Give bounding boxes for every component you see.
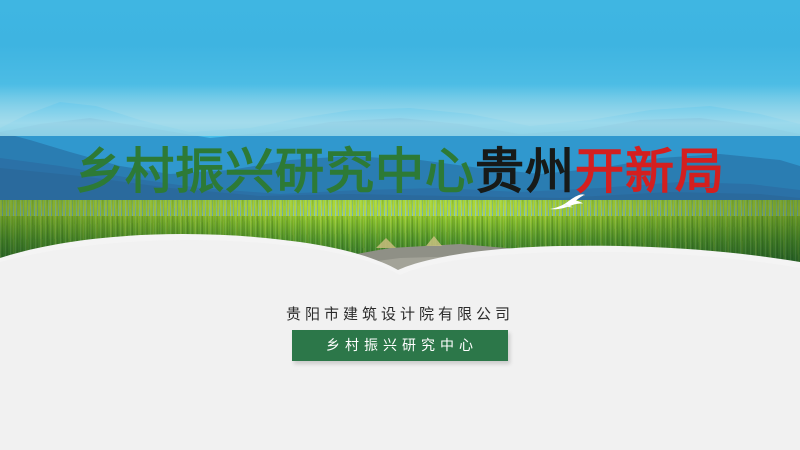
status-badge: 乡村振兴研究中心 [292, 330, 508, 361]
atmospheric-haze [0, 84, 800, 136]
title-red: 开新局 [575, 142, 725, 200]
company-name: 贵阳市建筑设计院有限公司 [0, 303, 800, 324]
title-green: 乡村振兴研究中心 [75, 142, 475, 200]
banner-container: 乡村振兴研究中心 [0, 330, 800, 361]
page-title: 乡村振兴研究中心贵州开新局 [0, 143, 800, 199]
presentation-slide: 乡村振兴研究中心贵州开新局 贵阳市建筑设计院有限公司 乡村振兴研究中心 [0, 0, 800, 450]
title-dark: 贵州 [475, 142, 575, 200]
